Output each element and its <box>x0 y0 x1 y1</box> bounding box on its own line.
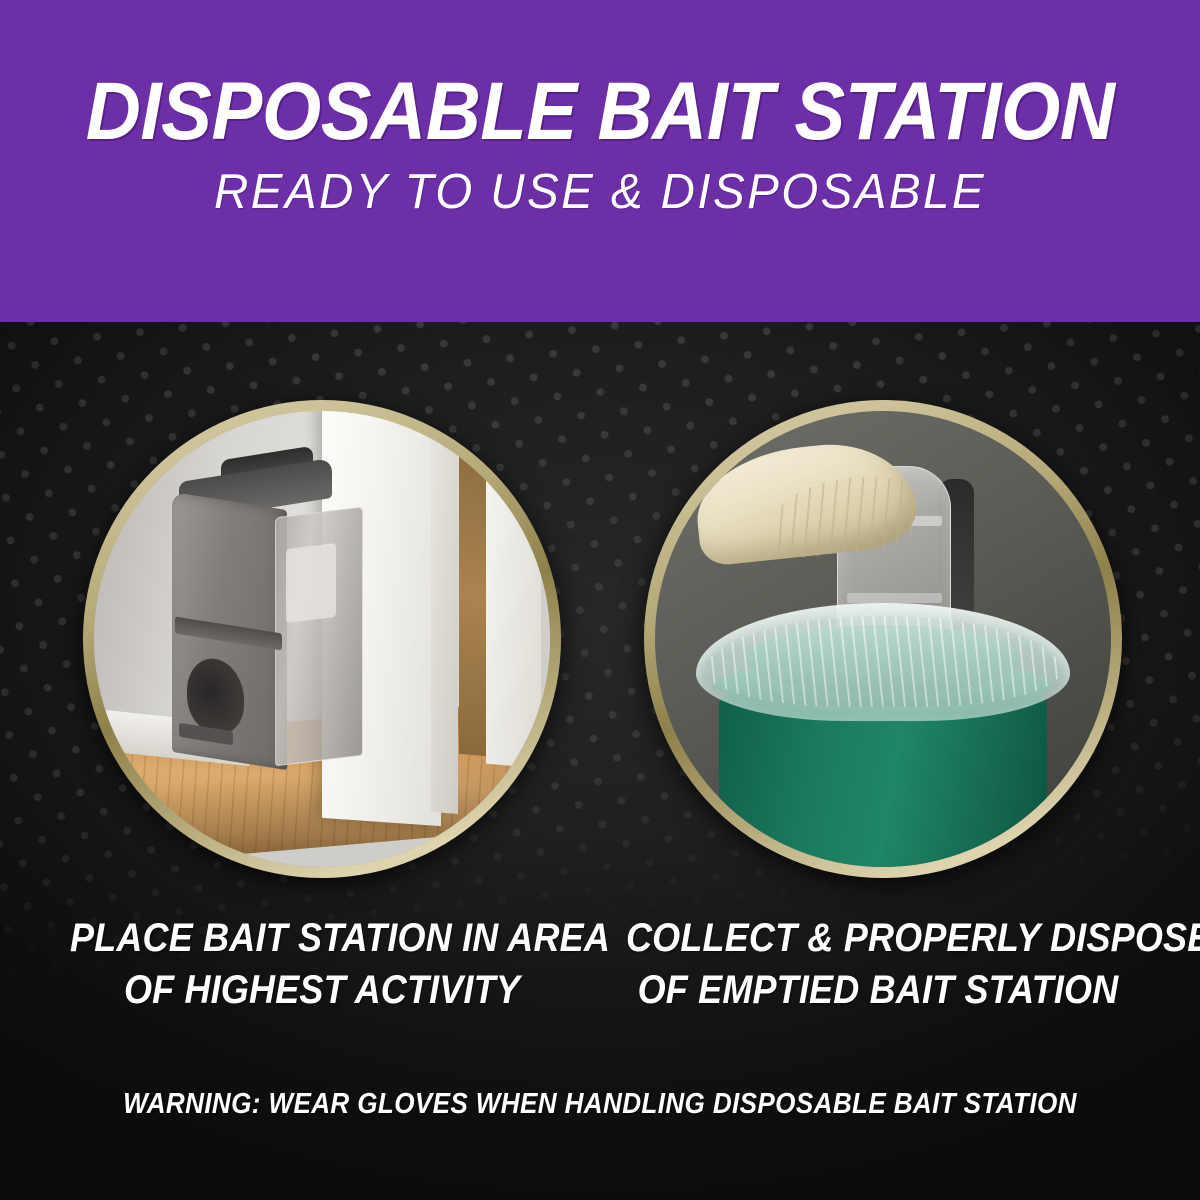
caption-dispose-bait-station: COLLECT & PROPERLY DISPOSE OF EMPTIED BA… <box>626 912 1130 1016</box>
photo-inner-left <box>94 411 550 867</box>
photo-circle-place-bait-station <box>83 400 561 878</box>
caption-left-line-2: OF HIGHEST ACTIVITY <box>70 964 574 1016</box>
bait-station-unit <box>172 484 364 767</box>
photo-inner-right <box>655 411 1111 867</box>
warning-text: WARNING: WEAR GLOVES WHEN HANDLING DISPO… <box>60 1088 1140 1121</box>
caption-place-bait-station: PLACE BAIT STATION IN AREA OF HIGHEST AC… <box>70 912 574 1016</box>
caption-left-line-1: PLACE BAIT STATION IN AREA <box>70 912 574 964</box>
door-panel-far <box>486 427 541 769</box>
infographic-page: DISPOSABLE BAIT STATION READY TO USE & D… <box>0 0 1200 1200</box>
station-rib-lower <box>847 593 943 603</box>
page-title: DISPOSABLE BAIT STATION <box>86 72 1115 152</box>
header-banner: DISPOSABLE BAIT STATION READY TO USE & D… <box>0 0 1200 322</box>
scene-bait-station-placement <box>94 411 550 867</box>
scene-bait-station-disposal <box>655 411 1111 867</box>
photo-circle-dispose-bait-station <box>644 400 1122 878</box>
caption-right-line-2: OF EMPTIED BAIT STATION <box>626 964 1130 1016</box>
bait-block <box>286 543 336 623</box>
caption-right-line-1: COLLECT & PROPERLY DISPOSE <box>626 912 1130 964</box>
page-subtitle: READY TO USE & DISPOSABLE <box>214 164 986 220</box>
white-wall-panel-edge <box>431 411 458 813</box>
